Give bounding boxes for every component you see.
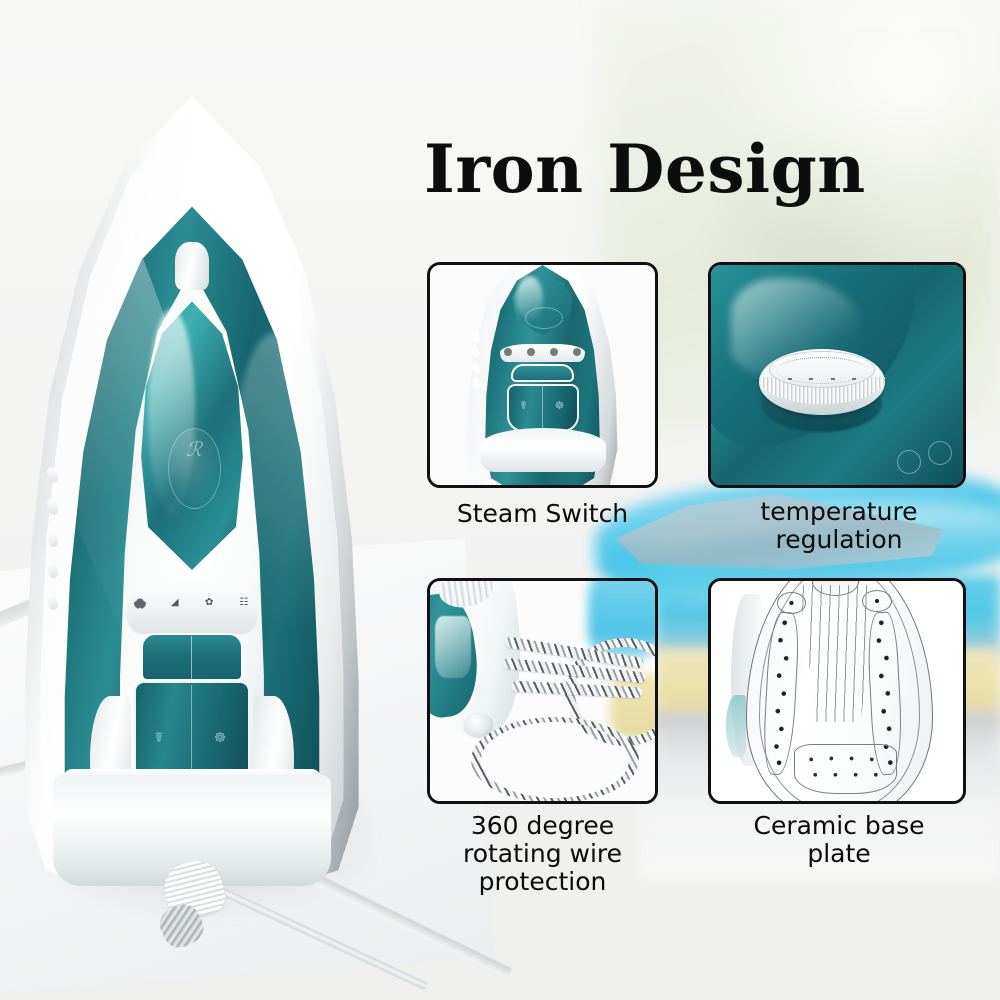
steam-burst-button-icon[interactable]: ☸ — [552, 399, 568, 413]
cord-swivel-grommet — [464, 713, 493, 737]
dial-mark — [852, 378, 856, 380]
caption-line-2: plate — [694, 840, 984, 868]
product-feature-image: ℛ ◢ ✿ ☷ ☤ ☸ Iron Design — [0, 0, 1000, 1000]
temperature-dial-photo — [711, 265, 963, 485]
mini-iron-base — [480, 428, 606, 472]
caption-steam-switch: Steam Switch — [400, 500, 685, 528]
power-cord-photo — [430, 581, 655, 801]
caption-line-2: rotating wire — [400, 840, 685, 868]
wool-fabric-icon — [527, 348, 535, 356]
steam-switch-divider — [191, 636, 192, 679]
feature-panel-temperature-regulation[interactable] — [708, 262, 966, 488]
feature-panel-ceramic-base-plate[interactable] — [708, 578, 966, 804]
mini-iron-handle-divider — [542, 386, 543, 430]
silk-fabric-icon — [504, 348, 512, 356]
dial-mark — [831, 378, 835, 380]
dial-mark — [809, 378, 813, 380]
mini-iron-logo-badge — [525, 307, 563, 329]
linen-fabric-icon: ☷ — [238, 597, 250, 609]
feature-panel-steam-switch[interactable]: ☤ ☸ — [427, 262, 658, 488]
page-title: Iron Design — [424, 136, 944, 202]
soleplate-teal-edge — [726, 695, 746, 757]
caption-ceramic-base-plate: Ceramic base plate — [694, 812, 984, 868]
spray-button-icon[interactable]: ☤ — [516, 399, 532, 413]
fabric-setting-icons: ◢ ✿ ☷ — [134, 587, 250, 619]
caption-line-2: regulation — [694, 526, 984, 554]
feature-panel-rotating-wire[interactable] — [427, 578, 658, 804]
hero-iron: ℛ ◢ ✿ ☷ ☤ ☸ — [22, 96, 362, 886]
caption-line-1: Ceramic base — [694, 812, 984, 840]
mini-fabric-setting-icons — [504, 348, 581, 357]
steam-burst-button-icon[interactable]: ☸ — [209, 728, 231, 748]
caption-line-1: temperature — [694, 498, 984, 526]
dial-mark — [788, 378, 792, 380]
caption-line-3: protection — [400, 868, 685, 896]
power-cord-loop — [471, 717, 640, 803]
steam-switch-lever-closeup[interactable] — [511, 364, 574, 382]
caption-temperature-regulation: temperature regulation — [694, 498, 984, 554]
spray-button-icon[interactable]: ☤ — [148, 728, 170, 748]
cotton-fabric-icon — [550, 348, 558, 356]
soleplate-diagram — [711, 581, 963, 801]
iron-logo-icon: ℛ — [177, 439, 211, 494]
iron-fill-spout — [175, 242, 209, 289]
linen-fabric-icon — [573, 348, 581, 356]
caption-line-1: 360 degree — [400, 812, 685, 840]
iron-body-badge — [897, 450, 921, 474]
iron-window-side — [435, 616, 471, 678]
caption-rotating-wire: 360 degree rotating wire protection — [400, 812, 685, 896]
cotton-fabric-icon: ✿ — [203, 597, 215, 609]
iron-body-badge-secondary — [928, 441, 952, 465]
silk-fabric-icon — [134, 597, 146, 609]
dial-setting-marks — [779, 373, 865, 386]
soleplate-heel-pad — [794, 744, 897, 794]
steam-switch-photo: ☤ ☸ — [430, 265, 655, 485]
wool-fabric-icon: ◢ — [169, 597, 181, 609]
